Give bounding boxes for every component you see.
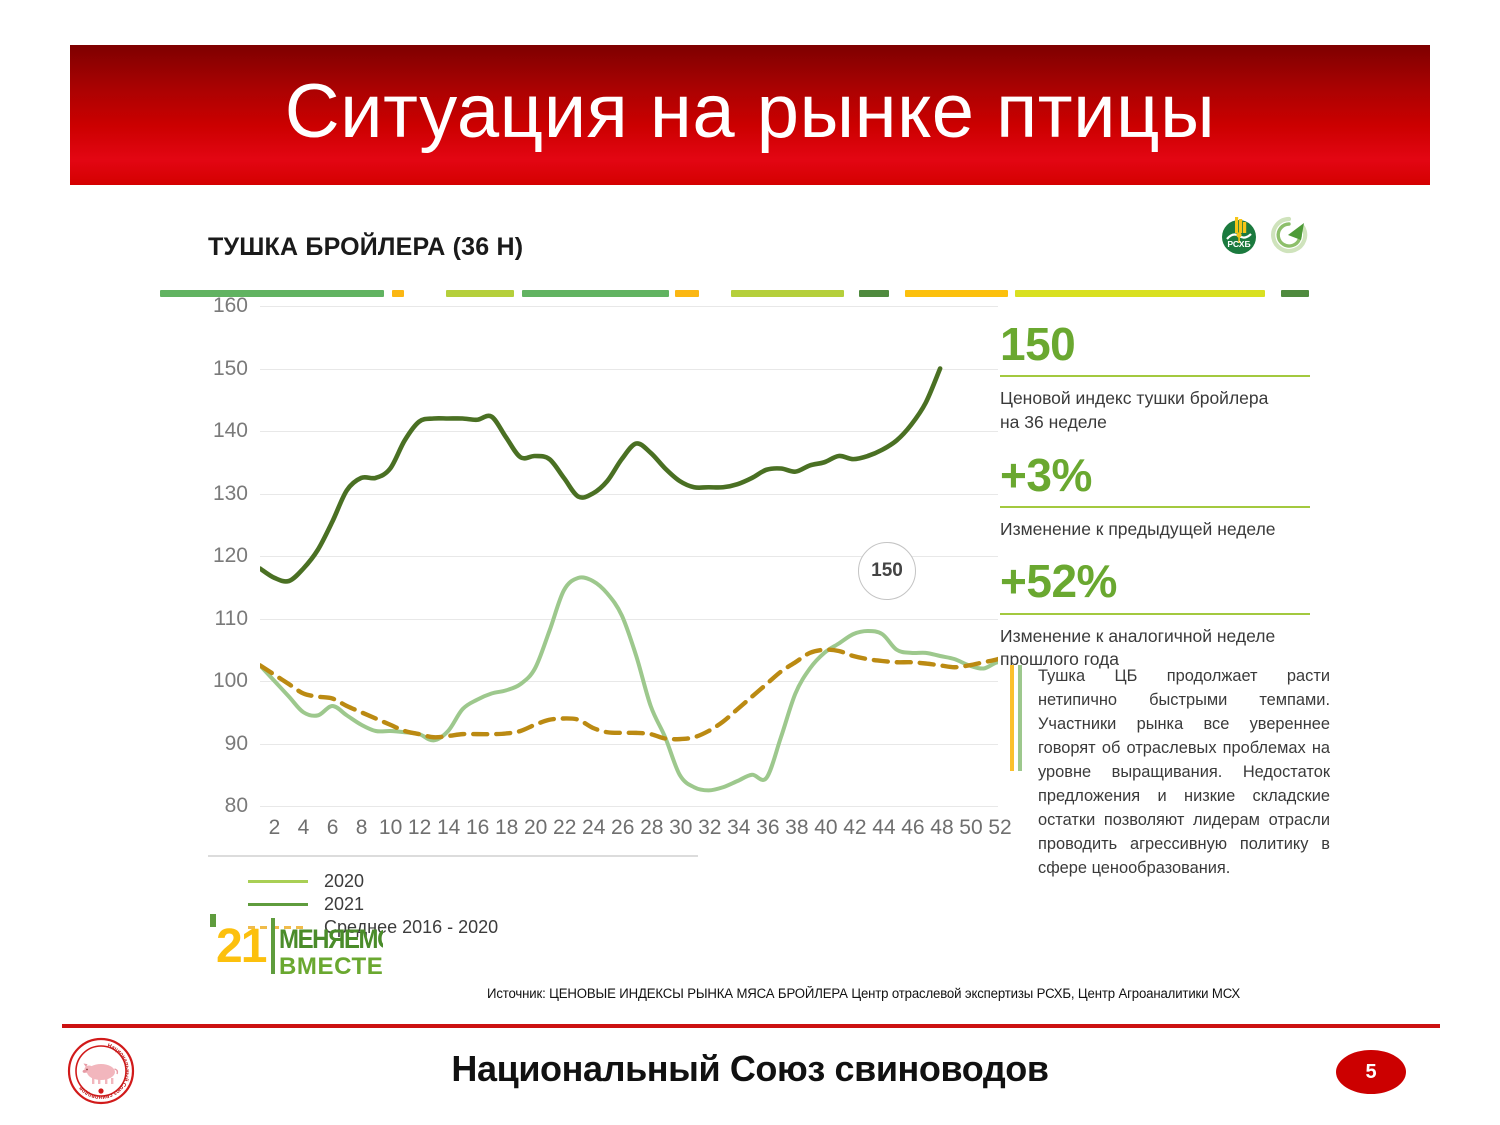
stat-divider [1000,613,1310,615]
dash-bar-segment [1008,290,1015,297]
commentary-text: Тушка ЦБ продолжает расти нетипично быст… [1038,665,1330,881]
y-axis-tick-label: 130 [213,482,248,506]
logo-line2: ВМЕСТЕ [279,953,383,980]
dash-bar-segment [675,290,699,297]
commentary-accent-bar [1018,665,1022,771]
y-axis-tick-label: 110 [215,607,248,631]
y-axis-tick-label: 160 [213,294,248,318]
dash-bar-segment [384,290,392,297]
x-axis-tick-label: 10 [379,816,402,840]
footer-divider [62,1024,1440,1028]
legend-swatch [248,880,308,883]
x-axis-tick-label: 4 [298,816,310,840]
x-axis-tick-label: 48 [930,816,953,840]
dash-bar-segment [522,290,669,297]
x-axis-tick-label: 16 [466,816,489,840]
menyaemsya-vmeste-logo: 21 МЕНЯЕМСЯ ВМЕСТЕ [208,910,383,982]
stat-value: 150 [1000,320,1310,368]
green-arrow-logo-icon [1268,214,1310,261]
page-number-badge: 5 [1336,1050,1406,1094]
stat-divider [1000,375,1310,377]
logo-line1: МЕНЯЕМСЯ [279,925,383,955]
footer-organization-title: Национальный Союз свиноводов [0,1048,1500,1090]
commentary-accent-bar [1010,665,1014,771]
dash-bar-segment [1265,290,1281,297]
slide-header-banner: Ситуация на рынке птицы [70,45,1430,185]
slide: Ситуация на рынке птицы ТУШКА БРОЙЛЕРА (… [0,0,1500,1125]
y-axis-tick-label: 100 [213,669,248,693]
dash-bar-segment [699,290,731,297]
stat-value: +52% [1000,557,1310,605]
x-axis-tick-label: 32 [698,816,721,840]
x-axis-tick-label: 34 [727,816,750,840]
y-axis-tick-label: 80 [225,794,248,818]
x-axis-tick-label: 2 [269,816,281,840]
source-note: Источник: ЦЕНОВЫЕ ИНДЕКСЫ РЫНКА МЯСА БРО… [487,986,1374,1001]
y-axis-labels: 1601501401301201101009080 [208,306,256,806]
x-axis-tick-label: 42 [843,816,866,840]
x-axis-tick-label: 22 [553,816,576,840]
x-axis-tick-label: 20 [524,816,547,840]
dash-bar-segment [160,290,384,297]
svg-text:РСХБ: РСХБ [1227,239,1250,249]
y-axis-tick-label: 140 [213,419,248,443]
dash-bar-segment [514,290,522,297]
svg-text:21: 21 [216,920,267,973]
x-axis-tick-label: 52 [988,816,1011,840]
dash-bar-segment [404,290,446,297]
x-axis-tick-label: 46 [901,816,924,840]
y-axis-tick-label: 150 [213,357,248,381]
x-axis-tick-label: 50 [959,816,982,840]
dash-bar-segment [1281,290,1309,297]
stat-description: Изменение к предыдущей неделе [1000,518,1310,542]
dash-bar-segment [889,290,905,297]
gridline [260,806,998,807]
dash-bar-segment [731,290,844,297]
legend-label: 2020 [324,871,364,892]
chart-line-2021 [260,369,940,582]
x-axis-tick-label: 40 [814,816,837,840]
x-axis-tick-label: 36 [756,816,779,840]
value-callout-badge: 150 [858,542,916,600]
dash-bar-segment [392,290,404,297]
dash-bar-segment [844,290,859,297]
chart-title: ТУШКА БРОЙЛЕРА (36 Н) [208,233,523,262]
x-axis-labels: 2468101214161820222426283032343638404244… [260,816,1000,846]
x-axis-tick-label: 24 [582,816,605,840]
commentary-block: Тушка ЦБ продолжает расти нетипично быст… [1010,665,1330,881]
x-axis-tick-label: 30 [669,816,692,840]
x-axis-rule [208,855,698,857]
rshb-logo-icon: РСХБ [1218,214,1260,261]
x-axis-tick-label: 28 [640,816,663,840]
x-axis-tick-label: 38 [785,816,808,840]
x-axis-tick-label: 12 [408,816,431,840]
y-axis-tick-label: 120 [213,544,248,568]
x-axis-tick-label: 18 [495,816,518,840]
stat-value: +3% [1000,451,1310,499]
x-axis-tick-label: 44 [872,816,895,840]
x-axis-tick-label: 26 [611,816,634,840]
dash-bar-segment [859,290,889,297]
legend-item: 2020 [248,870,498,893]
x-axis-tick-label: 14 [437,816,460,840]
x-axis-tick-label: 6 [327,816,339,840]
stat-divider [1000,506,1310,508]
x-axis-tick-label: 8 [356,816,368,840]
decorative-dash-bar [160,290,1340,297]
dash-bar-segment [446,290,514,297]
page-title: Ситуация на рынке птицы [285,74,1215,156]
stat-description: Ценовой индекс тушки бройлерана 36 недел… [1000,387,1310,434]
commentary-accent-bars [1010,665,1024,881]
dash-bar-segment [1015,290,1265,297]
legend-swatch [248,903,308,906]
dash-bar-segment [905,290,1008,297]
stats-panel: 150Ценовой индекс тушки бройлерана 36 не… [1000,320,1310,688]
y-axis-tick-label: 90 [225,732,248,756]
brand-logo-group: РСХБ [1218,214,1310,261]
